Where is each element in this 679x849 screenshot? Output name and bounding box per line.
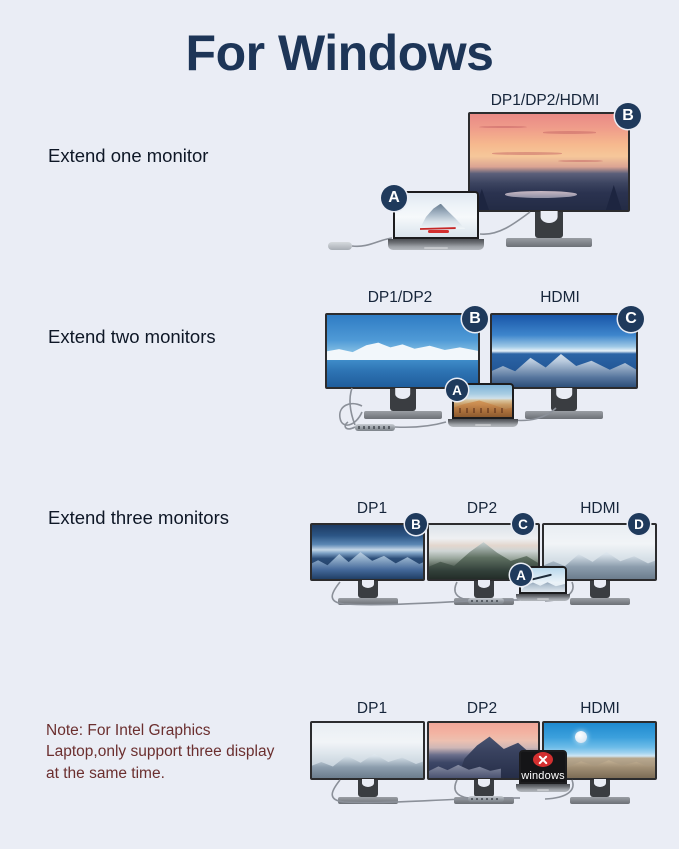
badge-s1-a: A <box>381 185 407 211</box>
laptop-base <box>448 419 517 427</box>
monitor-neck <box>590 581 610 598</box>
monitor-s2-c <box>490 313 638 389</box>
usb-hub-s2 <box>355 424 395 431</box>
monitor-neck <box>390 389 416 411</box>
usb-hub-s4 <box>468 796 504 802</box>
laptop-base <box>516 784 570 792</box>
monitor-neck <box>535 212 563 238</box>
monitor-frame <box>468 112 630 212</box>
badge-s2-a: A <box>446 379 468 401</box>
section-label-three-monitors: Extend three monitors <box>48 507 229 529</box>
monitor-neck <box>551 389 577 411</box>
monitor-base <box>570 797 630 804</box>
laptop-base <box>388 239 484 250</box>
port-caption-s4-m3: HDMI <box>546 700 654 718</box>
monitor-screen-blue-mountains <box>492 315 636 387</box>
monitor-neck <box>590 780 610 797</box>
port-caption-s4-m1: DP1 <box>318 700 426 718</box>
badge-s3-a: A <box>510 564 532 586</box>
port-caption-s2-m1: DP1/DP2 <box>330 289 470 307</box>
monitor-neck <box>474 581 494 598</box>
badge-s3-d: D <box>628 513 650 535</box>
port-caption-s1-m1: DP1/DP2/HDMI <box>470 92 620 110</box>
monitor-base <box>338 598 398 605</box>
note-intel-graphics: Note: For Intel Graphics Laptop,only sup… <box>46 720 276 784</box>
badge-s3-c: C <box>512 513 534 535</box>
monitor-base <box>525 411 603 419</box>
monitor-base <box>506 238 592 247</box>
red-x-icon <box>533 752 553 767</box>
monitor-screen-dark-snow-mountains <box>312 525 423 579</box>
laptop-base <box>516 594 570 601</box>
monitor-s4-dp1 <box>310 721 425 780</box>
monitor-neck <box>358 780 378 797</box>
laptop-lid: windows <box>519 750 567 784</box>
infographic-page: For Windows Extend one monitor DP1/DP2/H… <box>0 0 679 849</box>
port-caption-s4-m2: DP2 <box>428 700 536 718</box>
port-caption-s2-m2: HDMI <box>490 289 630 307</box>
monitor-screen-iceberg <box>327 315 478 387</box>
badge-s2-b: B <box>462 306 488 332</box>
monitor-s1-b <box>468 112 630 212</box>
section-label-one-monitor: Extend one monitor <box>48 145 208 167</box>
badge-s1-b: B <box>615 103 641 129</box>
monitor-base <box>338 797 398 804</box>
monitor-frame <box>490 313 638 389</box>
laptop-s4-blocked: windows <box>519 750 567 792</box>
usb-c-plug-s1 <box>328 242 352 250</box>
page-title: For Windows <box>0 24 679 82</box>
monitor-neck <box>474 780 494 797</box>
badge-s2-c: C <box>618 306 644 332</box>
monitor-neck <box>358 581 378 598</box>
usb-hub-s3 <box>468 598 504 604</box>
monitor-screen-white-snow <box>312 723 423 778</box>
windows-blocked-overlay: windows <box>521 752 565 782</box>
section-label-two-monitors: Extend two monitors <box>48 326 216 348</box>
windows-label: windows <box>521 770 565 782</box>
monitor-frame <box>325 313 480 389</box>
laptop-screen-snow-plane <box>395 193 477 237</box>
monitor-base <box>364 411 442 419</box>
monitor-s2-b <box>325 313 480 389</box>
monitor-base <box>570 598 630 605</box>
badge-s3-b: B <box>405 513 427 535</box>
monitor-screen-sunset <box>470 114 628 210</box>
monitor-frame <box>310 721 425 780</box>
